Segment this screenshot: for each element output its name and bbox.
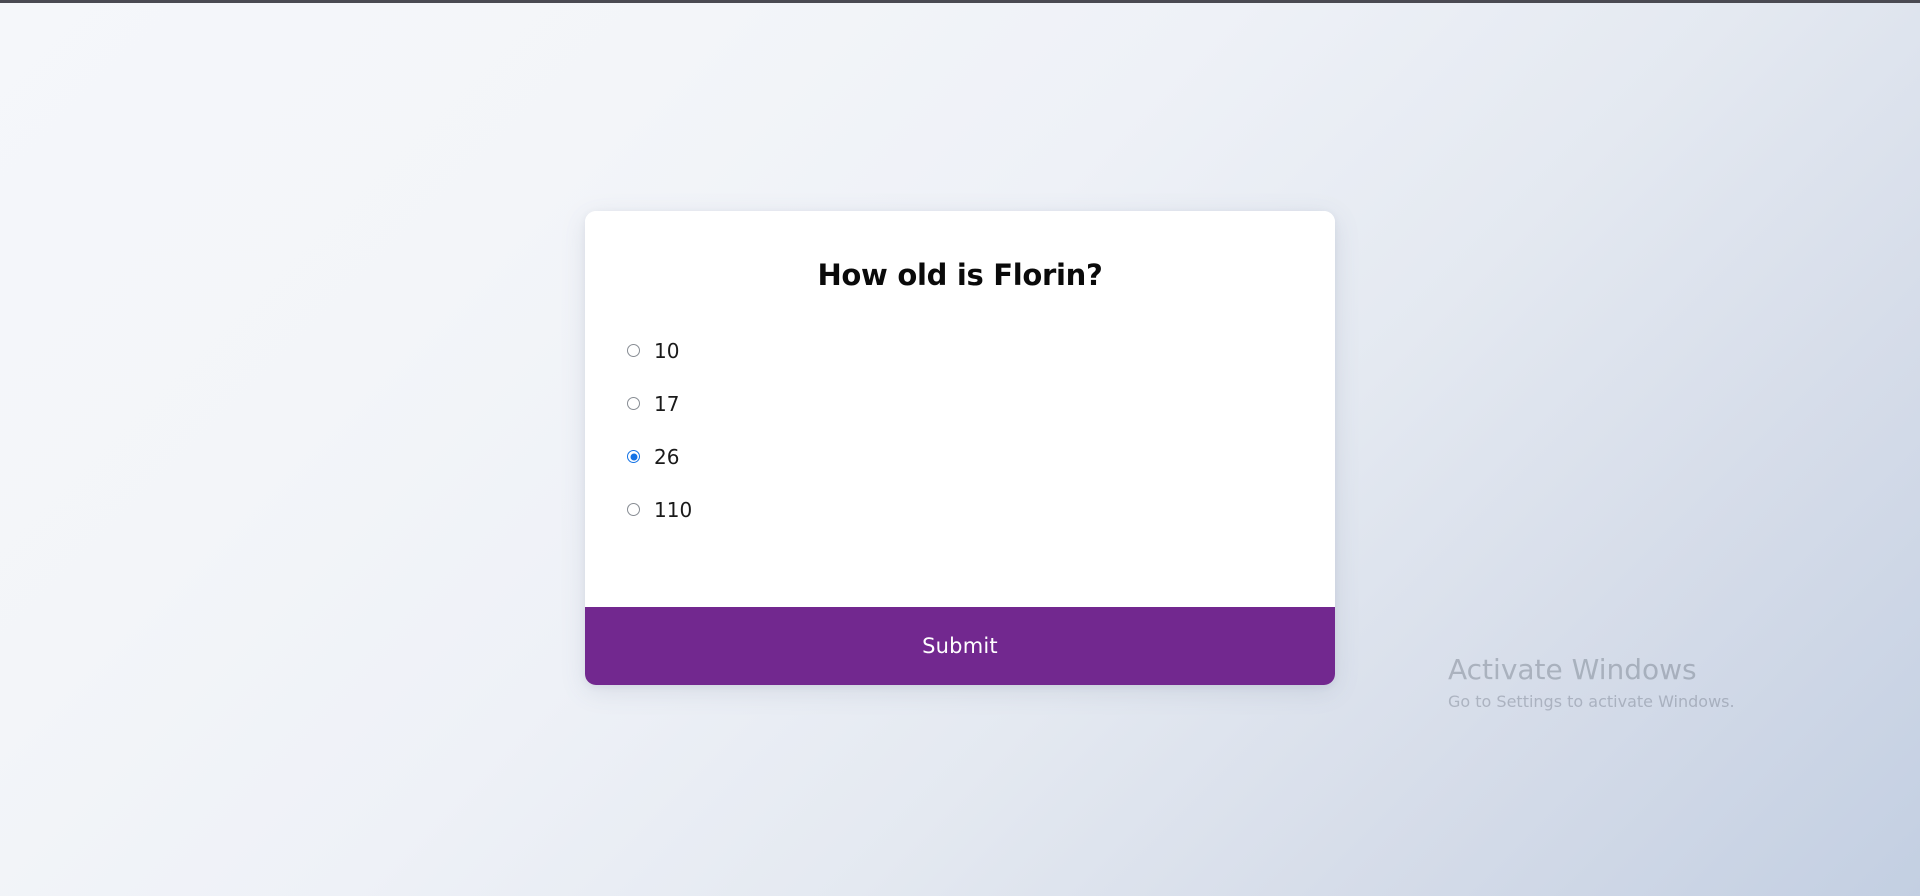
submit-button[interactable]: Submit bbox=[585, 607, 1335, 685]
windows-activation-watermark: Activate Windows Go to Settings to activ… bbox=[1448, 654, 1868, 711]
option-row-110[interactable]: 110 bbox=[627, 500, 867, 520]
top-edge-rule bbox=[0, 0, 1920, 3]
radio-icon-110[interactable] bbox=[627, 503, 640, 516]
option-label-17: 17 bbox=[654, 394, 679, 414]
watermark-subtitle: Go to Settings to activate Windows. bbox=[1448, 692, 1868, 711]
option-label-26: 26 bbox=[654, 447, 679, 467]
radio-icon-10[interactable] bbox=[627, 344, 640, 357]
quiz-card-body: How old is Florin? 10 17 26 110 bbox=[585, 211, 1335, 607]
page-background: How old is Florin? 10 17 26 110 bbox=[0, 0, 1920, 896]
radio-icon-17[interactable] bbox=[627, 397, 640, 410]
option-row-10[interactable]: 10 bbox=[627, 341, 867, 361]
watermark-title: Activate Windows bbox=[1448, 654, 1868, 686]
options-list: 10 17 26 110 bbox=[585, 341, 1335, 520]
option-label-10: 10 bbox=[654, 341, 679, 361]
question-title: How old is Florin? bbox=[585, 258, 1335, 293]
option-row-26[interactable]: 26 bbox=[627, 447, 867, 467]
radio-icon-26-selected[interactable] bbox=[627, 450, 640, 463]
quiz-card: How old is Florin? 10 17 26 110 bbox=[585, 211, 1335, 685]
option-row-17[interactable]: 17 bbox=[627, 394, 867, 414]
option-label-110: 110 bbox=[654, 500, 692, 520]
